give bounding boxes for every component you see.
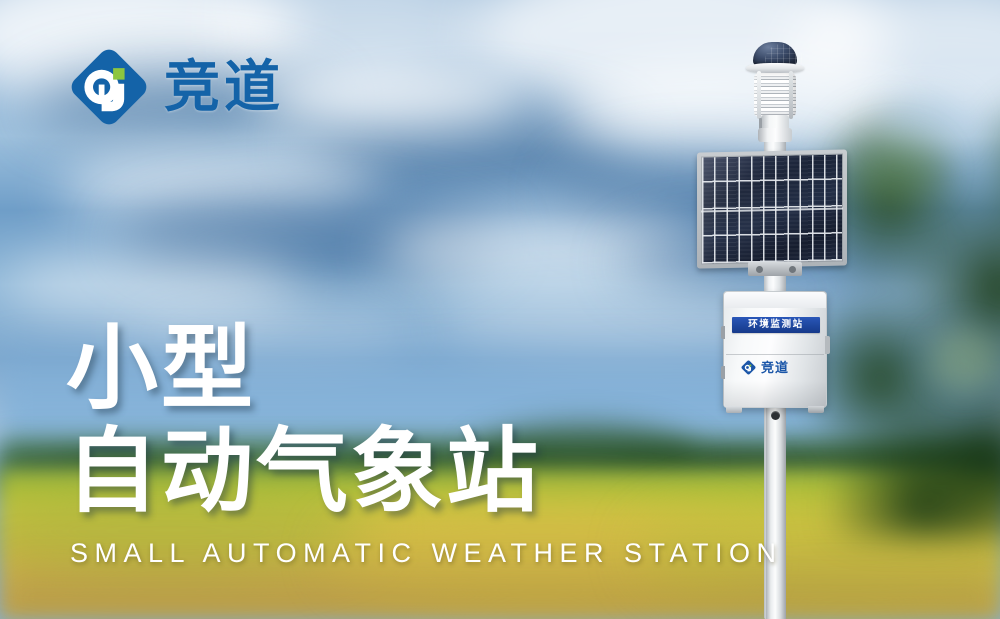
- logo-green-square: [113, 68, 124, 79]
- product-hero-banner: 环境监测站 竞道: [0, 0, 1000, 619]
- hero-title-line-2: 自动气象站: [66, 421, 541, 524]
- brand-name: 竞道: [164, 59, 284, 115]
- jingdao-diamond-logo-icon: [68, 46, 150, 128]
- hero-title-line-1: 小型: [66, 318, 541, 421]
- brand-logo[interactable]: 竞道: [68, 46, 284, 128]
- tree-highlight: [930, 330, 1000, 390]
- hero-subtitle: SMALL AUTOMATIC WEATHER STATION: [70, 538, 783, 569]
- hero-title: 小型 自动气象站: [66, 318, 541, 524]
- tree-highlight: [852, 136, 942, 202]
- logo-stem: [99, 85, 105, 101]
